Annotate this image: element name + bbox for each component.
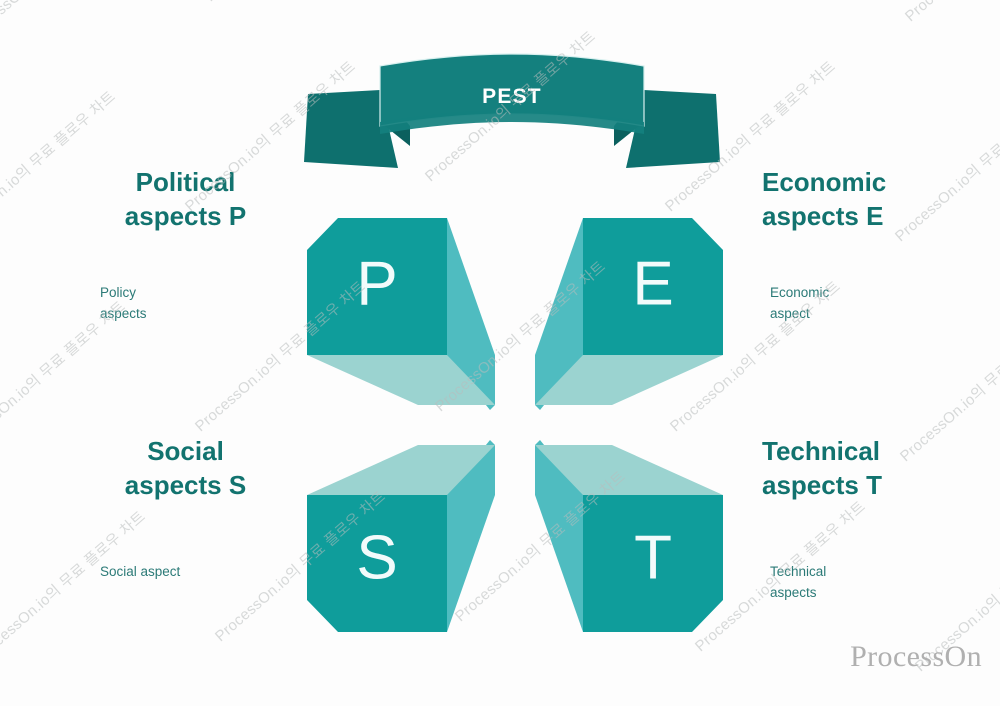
political-title-line2: aspects P bbox=[125, 201, 246, 231]
technical-title-line2: aspects T bbox=[762, 470, 882, 500]
block-e[interactable]: E bbox=[535, 218, 723, 410]
banner-shape bbox=[302, 52, 722, 176]
block-s-letter: S bbox=[356, 523, 397, 592]
block-e-letter: E bbox=[632, 249, 673, 318]
economic-title-line1: Economic bbox=[762, 167, 886, 197]
economic-title: Economic aspects E bbox=[762, 165, 987, 234]
label-economic-aspects: Economic aspects E Economic aspect bbox=[762, 165, 987, 325]
pest-blocks: P E S T bbox=[290, 200, 740, 650]
watermark-text: ProcessOn.io의 무료 플로우 차트 bbox=[200, 0, 380, 6]
technical-sub-line2: aspects bbox=[770, 585, 817, 600]
economic-sub-line1: Economic bbox=[770, 285, 829, 300]
block-t-letter: T bbox=[634, 523, 672, 592]
social-title: Social aspects S bbox=[78, 434, 293, 503]
social-sub-line1: Social aspect bbox=[100, 564, 180, 579]
political-subtitle: Policy aspects bbox=[100, 282, 293, 326]
political-sub-line1: Policy bbox=[100, 285, 136, 300]
blocks-shape: P E S T bbox=[290, 200, 740, 650]
social-title-line1: Social bbox=[147, 436, 224, 466]
political-title: Political aspects P bbox=[78, 165, 293, 234]
block-t[interactable]: T bbox=[535, 440, 723, 632]
economic-title-line2: aspects E bbox=[762, 201, 883, 231]
economic-subtitle: Economic aspect bbox=[770, 282, 987, 326]
social-title-line2: aspects S bbox=[125, 470, 246, 500]
watermark-text: ProcessOn.io의 무료 플로우 차트 bbox=[0, 0, 140, 46]
political-sub-line2: aspects bbox=[100, 306, 147, 321]
block-p[interactable]: P bbox=[307, 218, 495, 410]
processon-logo: ProcessOn bbox=[850, 640, 982, 674]
label-social-aspects: Social aspects S Social aspect bbox=[78, 434, 293, 582]
label-technical-aspects: Technical aspects T Technical aspects bbox=[762, 434, 987, 604]
social-subtitle: Social aspect bbox=[100, 561, 293, 583]
technical-title-line1: Technical bbox=[762, 436, 880, 466]
technical-title: Technical aspects T bbox=[762, 434, 987, 503]
watermark-text: ProcessOn.io의 무료 플로우 차트 bbox=[900, 0, 1000, 26]
economic-sub-line2: aspect bbox=[770, 306, 810, 321]
technical-subtitle: Technical aspects bbox=[770, 561, 987, 605]
pest-diagram-canvas: ProcessOn.io의 무료 플로우 차트ProcessOn.io의 무료 … bbox=[0, 0, 1000, 706]
block-s[interactable]: S bbox=[307, 440, 495, 632]
pest-banner: PEST bbox=[302, 52, 722, 176]
label-political-aspects: Political aspects P Policy aspects bbox=[78, 165, 293, 325]
technical-sub-line1: Technical bbox=[770, 564, 826, 579]
political-title-line1: Political bbox=[136, 167, 236, 197]
block-p-letter: P bbox=[356, 249, 397, 318]
